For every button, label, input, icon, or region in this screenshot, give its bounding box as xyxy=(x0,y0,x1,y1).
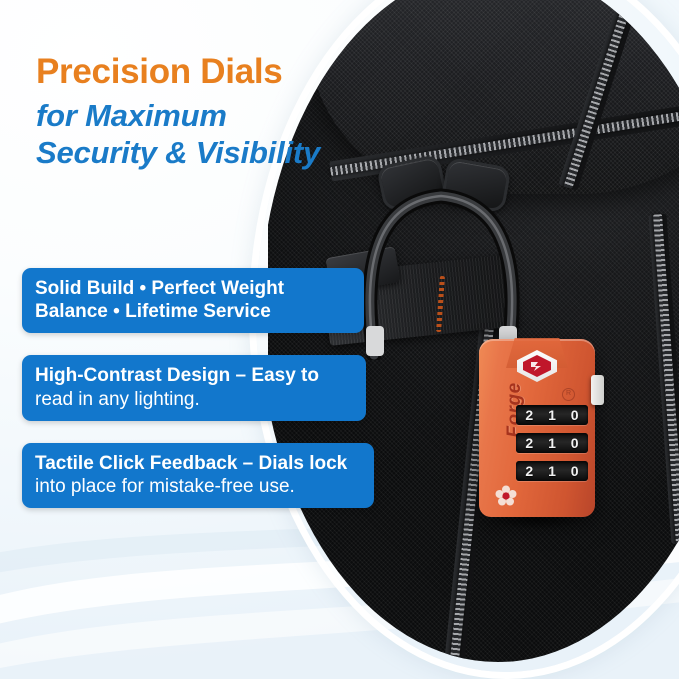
dial-digit[interactable]: 2 xyxy=(525,463,533,479)
headline-line-3: Security & Visibility xyxy=(36,134,406,171)
callout-high-contrast: High-Contrast Design – Easy to read in a… xyxy=(22,355,366,420)
dial-digit[interactable]: 1 xyxy=(548,435,556,451)
dial-digit[interactable]: 1 xyxy=(548,463,556,479)
lock-release-tab xyxy=(591,375,604,405)
headline-line-1: Precision Dials xyxy=(36,52,406,91)
combination-dials[interactable]: 2 1 0 2 1 0 2 1 0 xyxy=(516,405,588,481)
callout-line-strong: Tactile Click Feedback – Dials lock xyxy=(35,452,361,475)
promo-image: Forge R 2 1 0 2 1 0 2 1 xyxy=(0,0,679,679)
tsa-padlock: Forge R 2 1 0 2 1 0 2 1 xyxy=(479,339,595,517)
callout-line-strong: Solid Build • Perfect Weight xyxy=(35,277,351,300)
dial-row-2[interactable]: 2 1 0 xyxy=(516,433,588,453)
dial-digit[interactable]: 0 xyxy=(571,463,579,479)
tsa-glyph xyxy=(529,360,545,373)
headline-block: Precision Dials for Maximum Security & V… xyxy=(36,52,406,172)
callout-tactile-click: Tactile Click Feedback – Dials lock into… xyxy=(22,443,374,508)
cable-shackle xyxy=(346,150,536,360)
dial-digit[interactable]: 0 xyxy=(571,435,579,451)
dial-row-1[interactable]: 2 1 0 xyxy=(516,405,588,425)
dial-digit[interactable]: 0 xyxy=(571,407,579,423)
feature-callout-list: Solid Build • Perfect Weight Balance • L… xyxy=(22,268,367,530)
dial-digit[interactable]: 2 xyxy=(525,407,533,423)
flower-emblem-icon xyxy=(495,485,517,507)
callout-line-strong: High-Contrast Design – Easy to xyxy=(35,364,353,387)
callout-line-regular: Balance • Lifetime Service xyxy=(35,300,351,323)
callout-line-regular: into place for mistake-free use. xyxy=(35,475,361,498)
dial-digit[interactable]: 1 xyxy=(548,407,556,423)
dial-row-3[interactable]: 2 1 0 xyxy=(516,461,588,481)
callout-solid-build: Solid Build • Perfect Weight Balance • L… xyxy=(22,268,364,333)
dial-digit[interactable]: 2 xyxy=(525,435,533,451)
registered-trademark-icon: R xyxy=(562,388,575,401)
callout-line-regular: read in any lighting. xyxy=(35,388,353,411)
headline-line-2: for Maximum xyxy=(36,97,406,134)
